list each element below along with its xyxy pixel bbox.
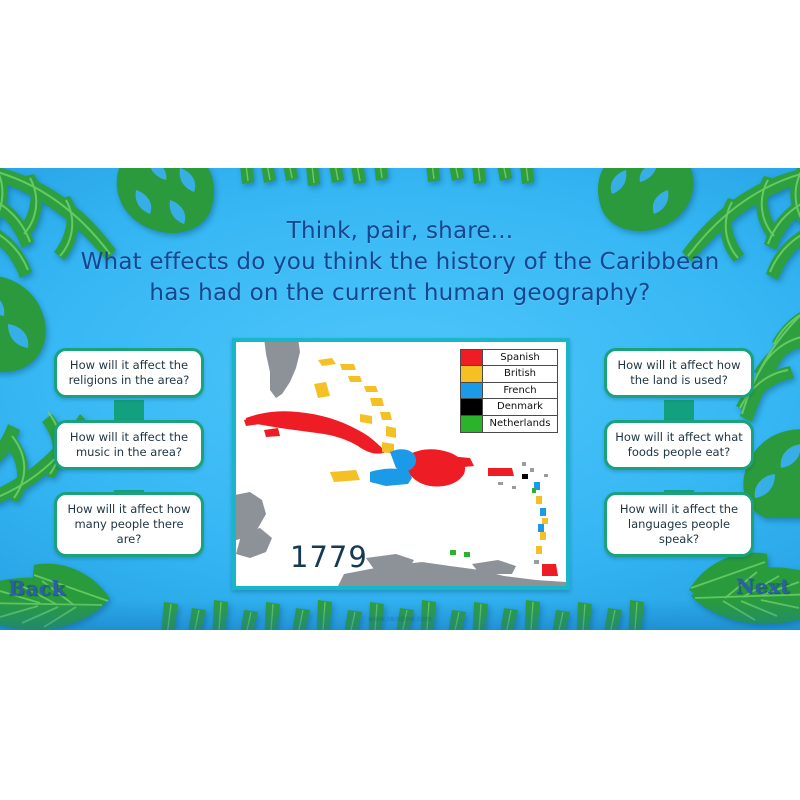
legend-row-denmark: Denmark [461,399,557,415]
question-box-foods[interactable]: How will it affect what foods people eat… [604,420,754,470]
legend-label-netherlands: Netherlands [483,416,557,432]
legend-row-british: British [461,366,557,382]
legend-row-netherlands: Netherlands [461,416,557,432]
legend-label-british: British [483,366,557,381]
right-question-column: How will it affect how the land is used?… [604,348,754,557]
legend-row-french: French [461,383,557,399]
legend-label-french: French [483,383,557,398]
map-canvas: Spanish British French Denmark [236,342,566,586]
legend-swatch-denmark [461,399,483,414]
legend-row-spanish: Spanish [461,350,557,366]
question-box-languages[interactable]: How will it affect the languages people … [604,492,754,557]
title-line-2: What effects do you think the history of… [60,247,740,278]
next-button[interactable]: Next [736,574,790,598]
map-year-label: 1779 [290,540,368,574]
territory-netherlands-group [450,488,536,557]
map-legend: Spanish British French Denmark [460,349,558,433]
question-box-music[interactable]: How will it affect the music in the area… [54,420,204,470]
title-line-1: Think, pair, share... [60,216,740,247]
legend-swatch-spanish [461,350,483,365]
legend-swatch-british [461,366,483,381]
territory-denmark-group [522,474,528,479]
title-line-3: has had on the current human geography? [60,278,740,309]
legend-label-denmark: Denmark [483,399,557,414]
question-box-religions[interactable]: How will it affect the religions in the … [54,348,204,398]
back-button[interactable]: Back [8,576,66,600]
page-root: { "slide": { "background_color": "#3dbdf… [0,0,800,800]
slide-canvas: Think, pair, share... What effects do yo… [0,168,800,630]
caribbean-map[interactable]: Spanish British French Denmark [232,338,570,590]
question-box-population[interactable]: How will it affect how many people there… [54,492,204,557]
legend-label-spanish: Spanish [483,350,557,365]
question-box-land-use[interactable]: How will it affect how the land is used? [604,348,754,398]
legend-swatch-netherlands [461,416,483,432]
watermark-text: www.rainbow.com [0,616,800,623]
page-title: Think, pair, share... What effects do yo… [60,216,740,309]
left-question-column: How will it affect the religions in the … [54,348,204,557]
legend-swatch-french [461,383,483,398]
